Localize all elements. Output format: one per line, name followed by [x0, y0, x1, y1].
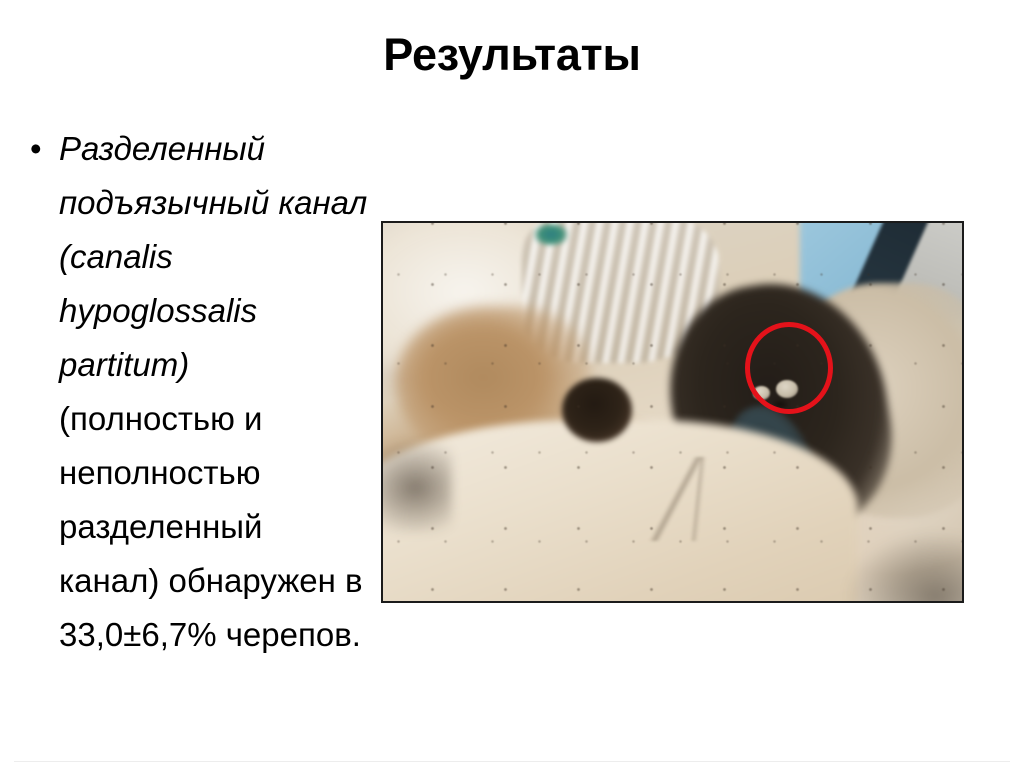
- red-annotation-ellipse: [745, 322, 833, 414]
- photo-content: [383, 223, 962, 601]
- body-text-block: • Разделенный подъязычный канал (canalis…: [30, 122, 370, 662]
- skull-base-photograph: [381, 221, 964, 603]
- left-shadow-region: [383, 442, 452, 533]
- page-bottom-rule: [14, 761, 1010, 762]
- list-item: • Разделенный подъязычный канал (canalis…: [30, 122, 370, 662]
- bullet-text-roman: (полностью и неполностью разделенный кан…: [59, 400, 363, 653]
- bottom-right-shadow: [846, 533, 962, 601]
- bullet-icon: •: [30, 122, 59, 176]
- bullet-text: Разделенный подъязычный канал (canalis h…: [59, 122, 370, 662]
- slide-canvas: Результаты • Разделенный подъязычный кан…: [0, 0, 1024, 767]
- bullet-text-italic: Разделенный подъязычный канал (canalis h…: [59, 130, 367, 383]
- page-title: Результаты: [0, 28, 1024, 82]
